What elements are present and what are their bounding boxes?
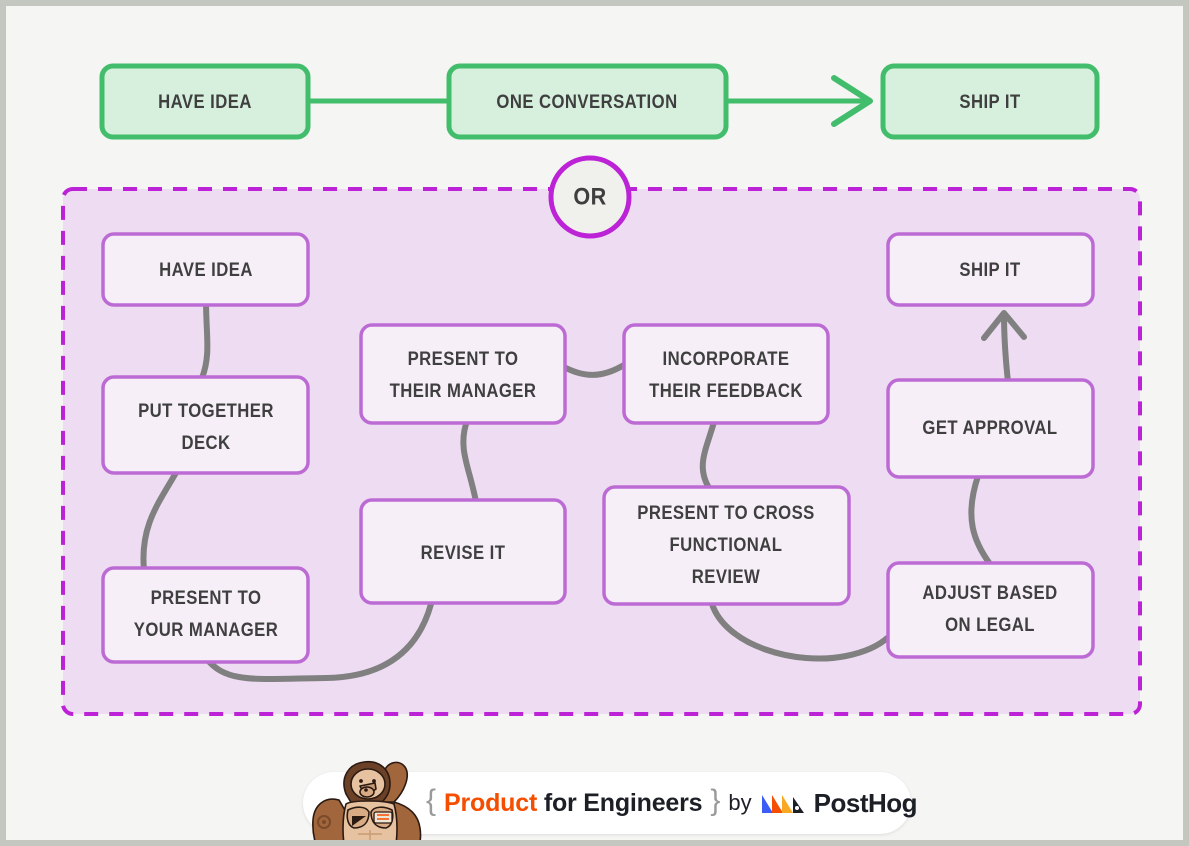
node-revise-it-label: REVISE IT (421, 542, 506, 563)
node-present-to-your-manager-label-line-2: YOUR MANAGER (134, 619, 278, 640)
brand-name: PostHog (814, 788, 917, 819)
node-present-to-their-manager[interactable]: PRESENT TO THEIR MANAGER (361, 325, 565, 423)
brace-open: { (426, 786, 436, 816)
or-divider-badge: OR (551, 158, 629, 236)
node-adjust-based-on-legal-label-line-2: ON LEGAL (945, 614, 1035, 635)
diagram-canvas: HAVE IDEA ONE CONVERSATION SHIP IT (0, 0, 1189, 846)
by-label: by (728, 790, 751, 816)
buff-hedgehog-mascot-icon (308, 756, 434, 846)
node-present-to-cross-functional-review-label-line-2: FUNCTIONAL (670, 534, 783, 555)
node-present-to-cross-functional-review-label-line-1: PRESENT TO CROSS (637, 502, 814, 523)
node-adjust-based-on-legal-box[interactable] (888, 563, 1093, 657)
node-present-to-your-manager-label-line-1: PRESENT TO (151, 587, 262, 608)
podcast-title: Product for Engineers (444, 789, 702, 818)
node-have-idea-label: HAVE IDEA (158, 91, 252, 112)
or-divider-label: OR (573, 182, 606, 209)
node-ship-it-2[interactable]: SHIP IT (888, 234, 1093, 305)
node-adjust-based-on-legal[interactable]: ADJUST BASED ON LEGAL (888, 563, 1093, 657)
node-incorporate-their-feedback[interactable]: INCORPORATE THEIR FEEDBACK (624, 325, 828, 423)
node-have-idea-2[interactable]: HAVE IDEA (103, 234, 308, 305)
node-have-idea[interactable]: HAVE IDEA (102, 66, 308, 137)
node-have-idea-2-label: HAVE IDEA (159, 259, 253, 280)
podcast-title-rest: for Engineers (537, 789, 702, 817)
brace-close: } (710, 786, 720, 816)
node-present-to-your-manager[interactable]: PRESENT TO YOUR MANAGER (103, 568, 308, 662)
node-incorporate-their-feedback-label-line-1: INCORPORATE (662, 348, 789, 369)
flowchart-svg: HAVE IDEA ONE CONVERSATION SHIP IT (6, 6, 1189, 846)
node-adjust-based-on-legal-label-line-1: ADJUST BASED (922, 582, 1057, 603)
node-incorporate-their-feedback-box[interactable] (624, 325, 828, 423)
node-present-to-your-manager-box[interactable] (103, 568, 308, 662)
node-one-conversation[interactable]: ONE CONVERSATION (449, 66, 726, 137)
node-put-together-deck-label-line-2: DECK (181, 432, 230, 453)
node-one-conversation-label: ONE CONVERSATION (496, 91, 677, 112)
badge-text-group: { Product for Engineers } by PostHog (426, 772, 917, 834)
node-put-together-deck[interactable]: PUT TOGETHER DECK (103, 377, 308, 473)
node-incorporate-their-feedback-label-line-2: THEIR FEEDBACK (649, 380, 803, 401)
node-get-approval-label: GET APPROVAL (922, 417, 1057, 438)
node-present-to-cross-functional-review[interactable]: PRESENT TO CROSS FUNCTIONAL REVIEW (604, 487, 849, 604)
node-present-to-their-manager-label-line-1: PRESENT TO (408, 348, 519, 369)
node-revise-it[interactable]: REVISE IT (361, 500, 565, 603)
podcast-title-accent: Product (444, 789, 537, 817)
node-ship-it-label: SHIP IT (959, 91, 1020, 112)
node-present-to-their-manager-box[interactable] (361, 325, 565, 423)
node-present-to-cross-functional-review-label-line-3: REVIEW (692, 566, 761, 587)
node-present-to-their-manager-label-line-2: THEIR MANAGER (390, 380, 537, 401)
node-put-together-deck-box[interactable] (103, 377, 308, 473)
node-ship-it[interactable]: SHIP IT (883, 66, 1097, 137)
node-get-approval[interactable]: GET APPROVAL (888, 380, 1093, 477)
posthog-logo-icon (760, 787, 806, 819)
node-put-together-deck-label-line-1: PUT TOGETHER (138, 400, 274, 421)
node-ship-it-2-label: SHIP IT (959, 259, 1020, 280)
